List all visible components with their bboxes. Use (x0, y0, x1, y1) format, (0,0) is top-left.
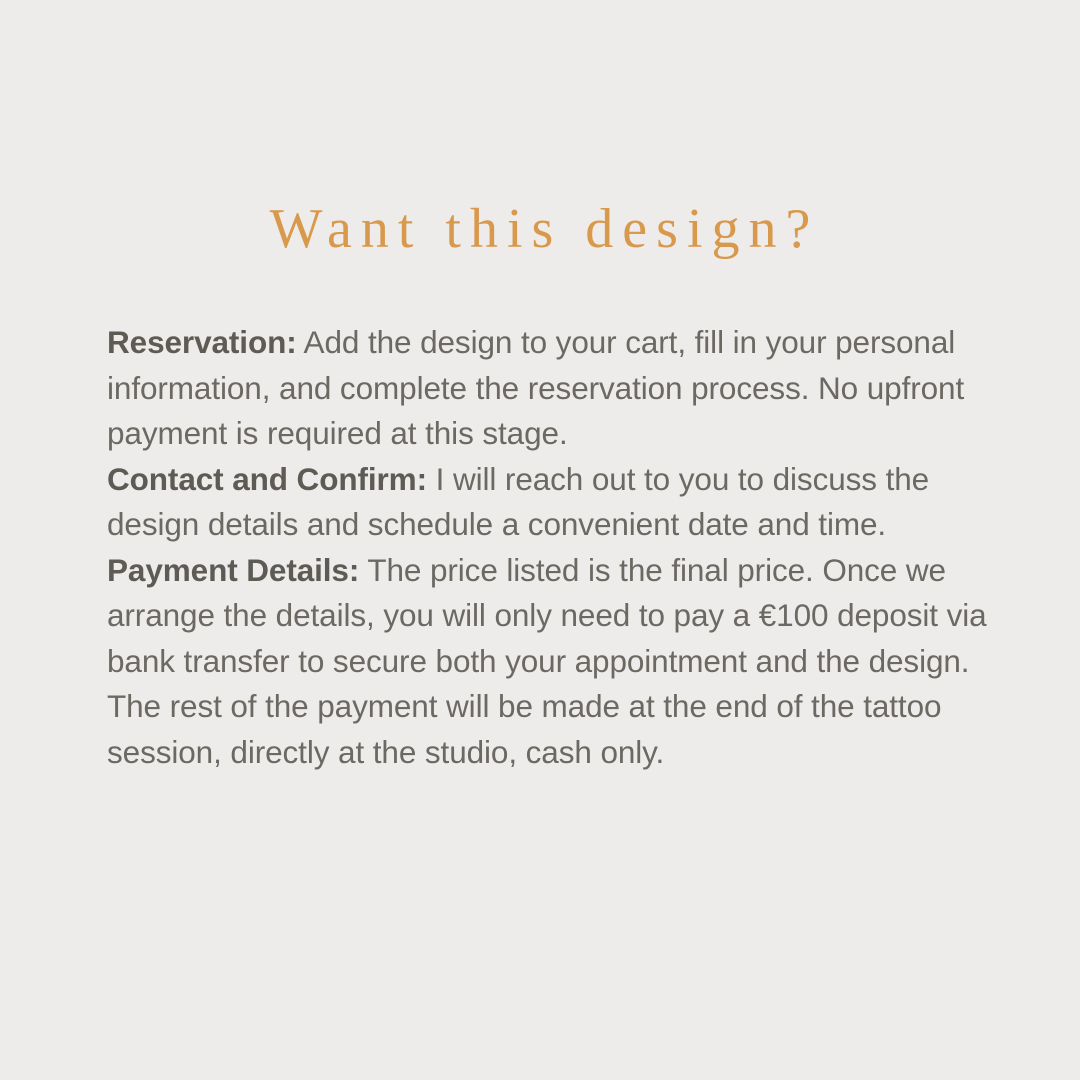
paragraph-label-contact-and-confirm: Contact and Confirm: (107, 461, 427, 497)
paragraph-label-reservation: Reservation: (107, 324, 297, 360)
paragraph-reservation: Reservation: Add the design to your cart… (107, 320, 987, 457)
instructions-body: Reservation: Add the design to your cart… (107, 320, 987, 775)
instruction-card: Want this design? Reservation: Add the d… (0, 0, 1080, 1080)
page-title: Want this design? (0, 196, 1080, 262)
paragraph-payment-details: Payment Details: The price listed is the… (107, 548, 987, 776)
paragraph-contact-and-confirm: Contact and Confirm: I will reach out to… (107, 457, 987, 548)
paragraph-label-payment-details: Payment Details: (107, 552, 359, 588)
